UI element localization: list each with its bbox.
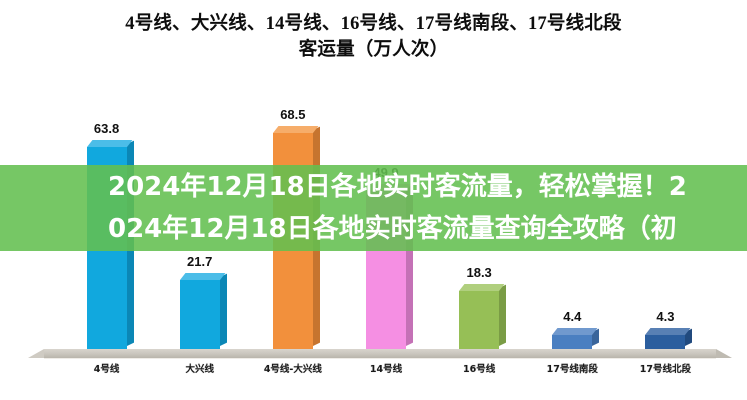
bar-side-face (499, 285, 506, 346)
caption-line-1: 2024年12月18日各地实时客流量，轻松掌握！2 (108, 166, 747, 208)
chart-title-line-1: 4号线、大兴线、14号线、16号线、17号线南段、17号线北段 (0, 12, 747, 38)
bar-body (180, 280, 220, 349)
category-label-1: 4号线 (94, 361, 120, 375)
caption-line-2: 024年12月18日各地实时客流量查询全攻略（初 (108, 208, 747, 250)
category-label-2: 大兴线 (185, 361, 214, 375)
bar-6 (552, 335, 592, 349)
bar-side-face (220, 274, 227, 346)
bar-top-face (645, 328, 690, 335)
bar-front-face (459, 291, 499, 349)
category-label-7: 17号线北段 (640, 361, 691, 375)
category-label-6: 17号线南段 (547, 361, 598, 375)
bar-5 (459, 291, 499, 349)
chart-floor-plane (44, 349, 716, 358)
bar-body (552, 335, 592, 349)
bar-body (459, 291, 499, 349)
bar-top-face (552, 328, 597, 335)
bar-top-face (273, 126, 318, 133)
bar-value-label-5: 18.3 (466, 265, 491, 280)
caption-overlay-text: 2024年12月18日各地实时客流量，轻松掌握！2 024年12月18日各地实时… (0, 165, 747, 251)
bar-front-face (552, 335, 592, 349)
bar-front-face (645, 335, 685, 349)
category-label-5: 16号线 (463, 361, 495, 375)
bar-2 (180, 280, 220, 349)
bar-value-label-7: 4.3 (656, 309, 674, 324)
bar-value-label-6: 4.4 (563, 309, 581, 324)
bar-body (645, 335, 685, 349)
bar-top-face (180, 273, 225, 280)
screenshot-root: 4号线、大兴线、14号线、16号线、17号线南段、17号线北段 客运量（万人次）… (0, 0, 747, 400)
category-label-3: 4号线-大兴线 (264, 361, 322, 375)
chart-title: 4号线、大兴线、14号线、16号线、17号线南段、17号线北段 客运量（万人次） (0, 12, 747, 63)
bar-value-label-3: 68.5 (280, 107, 305, 122)
bar-value-label-2: 21.7 (187, 254, 212, 269)
category-label-4: 14号线 (370, 361, 402, 375)
bar-top-face (87, 140, 132, 147)
bar-value-label-1: 63.8 (94, 121, 119, 136)
chart-title-line-2: 客运量（万人次） (0, 38, 747, 64)
bar-7 (645, 335, 685, 349)
caption-overlay-banner: 2024年12月18日各地实时客流量，轻松掌握！2 024年12月18日各地实时… (0, 165, 747, 251)
bar-top-face (459, 284, 504, 291)
bar-front-face (180, 280, 220, 349)
